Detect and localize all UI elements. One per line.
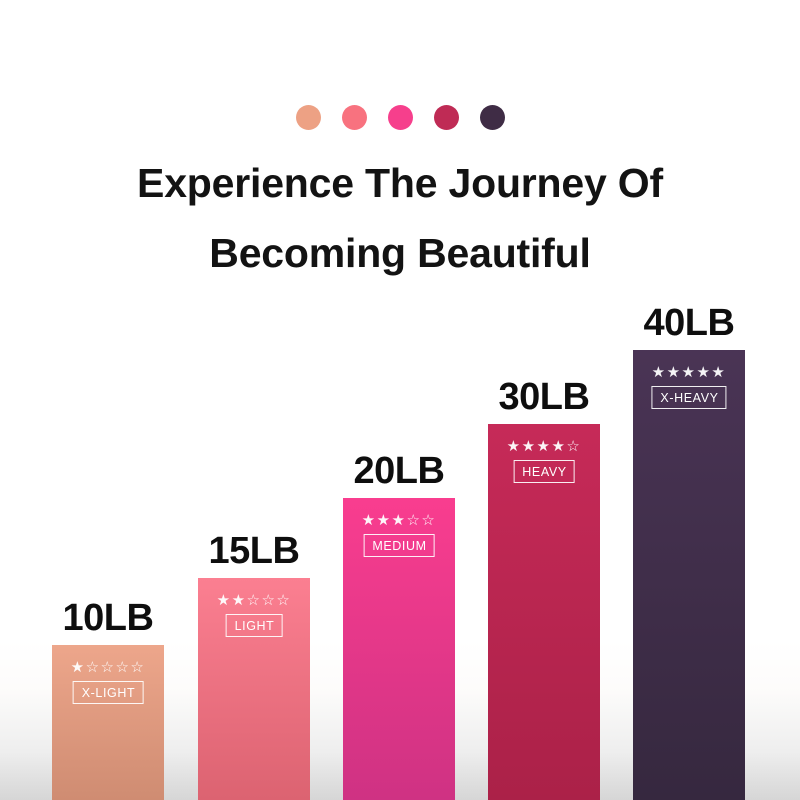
bar-group-20lb: 20LB ★★★☆☆ MEDIUM <box>343 0 455 800</box>
bar-10lb: ★☆☆☆☆ X-LIGHT <box>52 645 164 800</box>
product-resistance-chart-graphic: Experience The Journey Of Becoming Beaut… <box>0 0 800 800</box>
star-rating-15lb: ★★☆☆☆ <box>217 592 292 609</box>
level-label-30lb: HEAVY <box>513 460 574 483</box>
star-rating-30lb: ★★★★☆ <box>507 438 582 455</box>
star-rating-20lb: ★★★☆☆ <box>362 512 437 529</box>
bar-label-40lb: 40LB <box>644 303 735 343</box>
bar-badge-40lb: ★★★★★ X-HEAVY <box>651 364 726 409</box>
bar-badge-10lb: ★☆☆☆☆ X-LIGHT <box>71 659 146 704</box>
bar-badge-15lb: ★★☆☆☆ LIGHT <box>217 592 292 637</box>
level-label-15lb: LIGHT <box>226 614 283 637</box>
bar-badge-30lb: ★★★★☆ HEAVY <box>507 438 582 483</box>
bar-20lb: ★★★☆☆ MEDIUM <box>343 498 455 800</box>
level-label-10lb: X-LIGHT <box>73 681 144 704</box>
star-rating-40lb: ★★★★★ <box>651 364 726 381</box>
bar-30lb: ★★★★☆ HEAVY <box>488 424 600 800</box>
level-label-40lb: X-HEAVY <box>651 386 726 409</box>
bar-group-10lb: 10LB ★☆☆☆☆ X-LIGHT <box>52 0 164 800</box>
star-rating-10lb: ★☆☆☆☆ <box>71 659 146 676</box>
bar-badge-20lb: ★★★☆☆ MEDIUM <box>362 512 437 557</box>
bar-group-30lb: 30LB ★★★★☆ HEAVY <box>488 0 600 800</box>
bar-label-20lb: 20LB <box>354 451 445 491</box>
level-label-20lb: MEDIUM <box>363 534 434 557</box>
bar-15lb: ★★☆☆☆ LIGHT <box>198 578 310 800</box>
bar-group-15lb: 15LB ★★☆☆☆ LIGHT <box>198 0 310 800</box>
bar-label-10lb: 10LB <box>63 598 154 638</box>
bar-40lb: ★★★★★ X-HEAVY <box>633 350 745 800</box>
bar-label-15lb: 15LB <box>209 531 300 571</box>
bar-chart: 10LB ★☆☆☆☆ X-LIGHT 15LB ★★☆☆☆ LIGHT 20LB <box>0 0 800 800</box>
bar-label-30lb: 30LB <box>499 377 590 417</box>
bar-group-40lb: 40LB ★★★★★ X-HEAVY <box>633 0 745 800</box>
